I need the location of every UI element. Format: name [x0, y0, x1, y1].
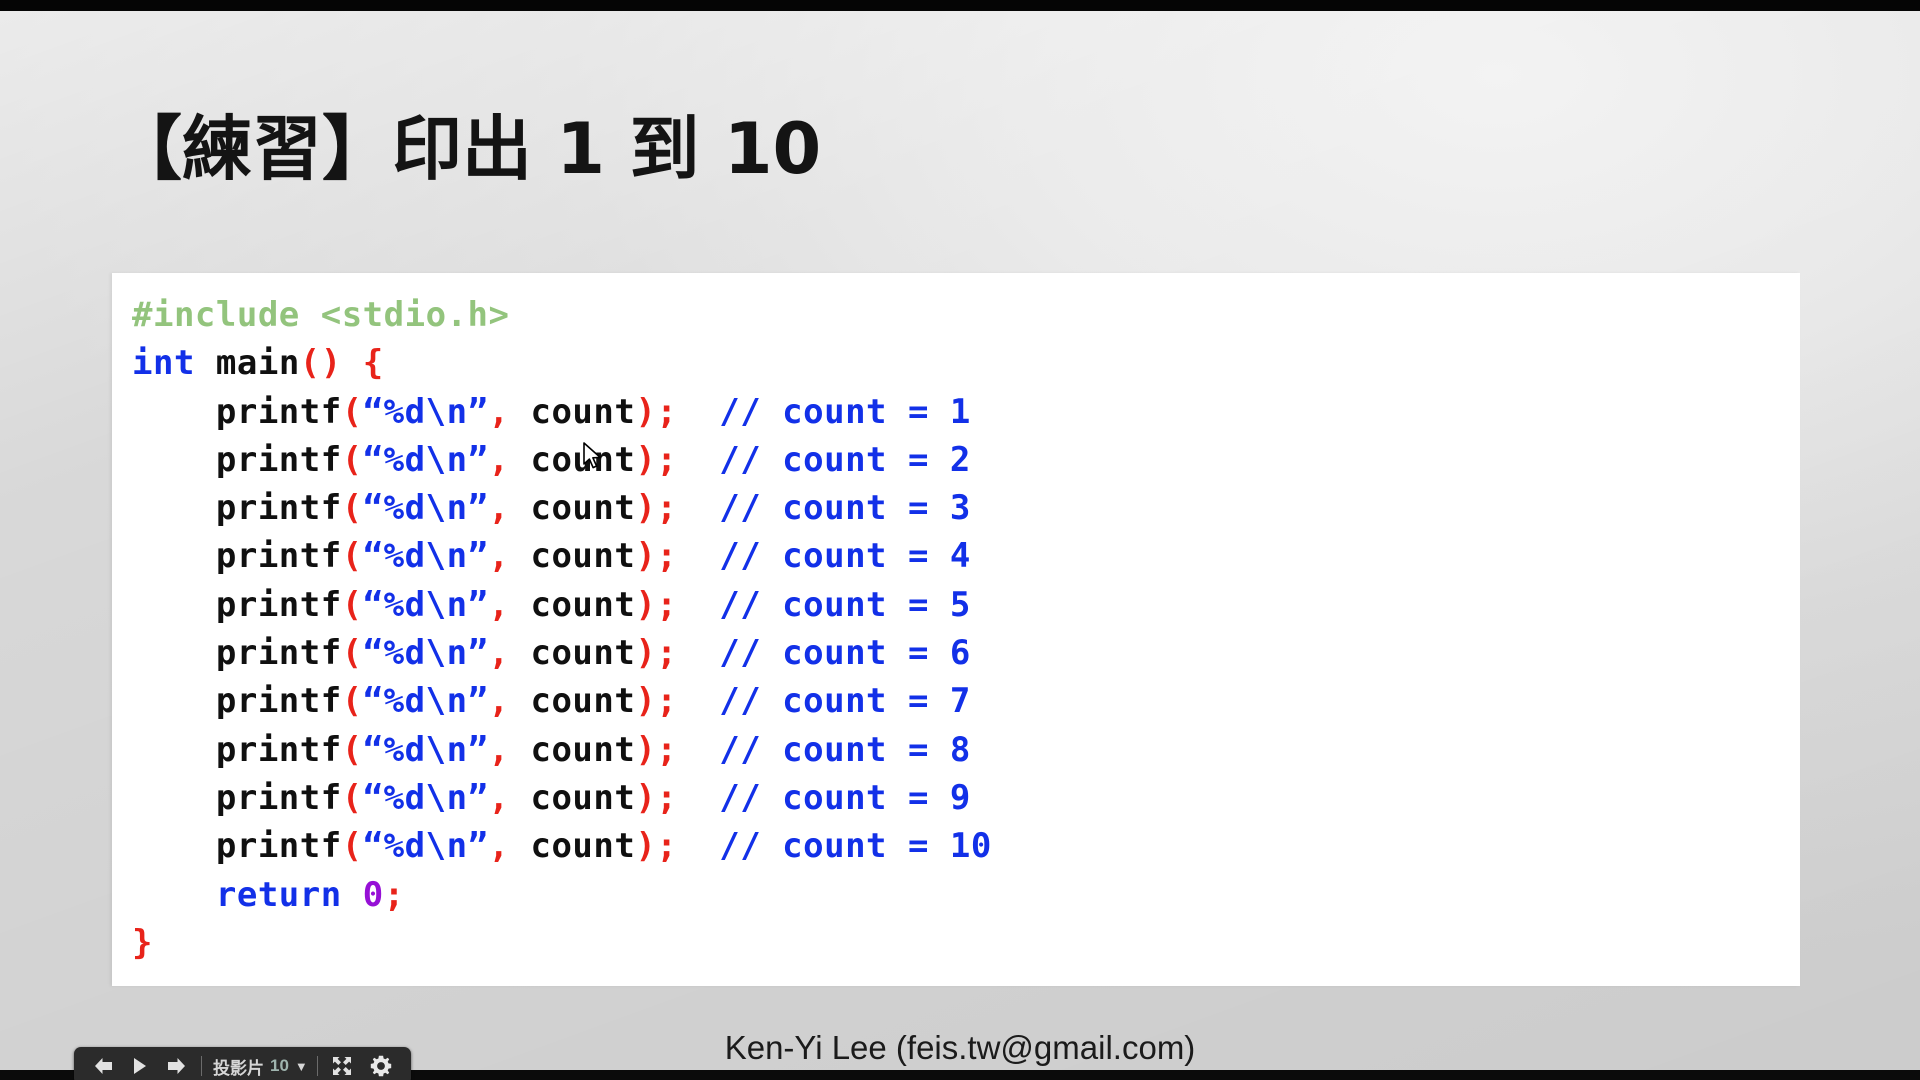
code-token-punc: , [489, 826, 510, 866]
code-token-punc: ); [635, 681, 677, 721]
code-token-punc: ); [635, 778, 677, 818]
code-token-fn: count [510, 826, 636, 866]
presenter-toolbar[interactable]: 投影片 10 ▼ [74, 1047, 411, 1080]
code-token-fn: printf [216, 585, 342, 625]
code-token-punc: ); [635, 536, 677, 576]
fit-screen-button[interactable] [323, 1047, 361, 1080]
code-token-cmt: // count = 10 [719, 826, 992, 866]
code-token-punc: } [132, 923, 153, 963]
code-token-str: “%d\n” [363, 730, 489, 770]
code-token-fn [677, 826, 719, 866]
code-panel: #include <stdio.h>int main() { printf(“%… [112, 273, 1800, 986]
code-token-cmt: // count = 5 [719, 585, 971, 625]
slide-canvas: 【練習】印出 1 到 10 #include <stdio.h>int main… [0, 11, 1920, 1070]
code-token-str: “%d\n” [363, 392, 489, 432]
code-token-punc: ( [342, 633, 363, 673]
code-token-punc: ); [635, 488, 677, 528]
next-slide-button[interactable] [157, 1047, 196, 1080]
code-line: printf(“%d\n”, count); // count = 5 [132, 581, 992, 629]
code-line: printf(“%d\n”, count); // count = 9 [132, 774, 992, 822]
code-token-str: “%d\n” [363, 633, 489, 673]
toolbar-divider-1 [201, 1056, 202, 1076]
code-indent [132, 826, 216, 866]
code-token-fn [677, 778, 719, 818]
code-indent [132, 440, 216, 480]
chevron-down-icon: ▼ [289, 1059, 308, 1074]
code-token-fn: printf [216, 826, 342, 866]
code-indent [132, 633, 216, 673]
code-token-punc: , [489, 633, 510, 673]
code-token-cmt: // count = 8 [719, 730, 971, 770]
code-token-punc: , [489, 488, 510, 528]
code-line: printf(“%d\n”, count); // count = 6 [132, 629, 992, 677]
code-token-cmt: // count = 7 [719, 681, 971, 721]
code-line: printf(“%d\n”, count); // count = 10 [132, 822, 992, 870]
code-token-punc: , [489, 681, 510, 721]
code-token-punc: ; [384, 875, 405, 915]
code-line: printf(“%d\n”, count); // count = 7 [132, 677, 992, 725]
code-token-punc: ( [342, 536, 363, 576]
code-indent [132, 488, 216, 528]
code-token-fn: printf [216, 633, 342, 673]
code-indent [132, 392, 216, 432]
code-token-cmt: // count = 9 [719, 778, 971, 818]
code-token-punc: ); [635, 440, 677, 480]
code-token-punc: , [489, 440, 510, 480]
code-indent [132, 585, 216, 625]
code-token-cmt: // count = 4 [719, 536, 971, 576]
code-token-punc: { [363, 343, 384, 383]
code-token-punc: , [489, 730, 510, 770]
code-token-str: “%d\n” [363, 585, 489, 625]
code-token-punc: ( [342, 488, 363, 528]
arrow-right-icon [166, 1057, 187, 1075]
code-token-punc: ( [342, 730, 363, 770]
code-token-punc: ); [635, 730, 677, 770]
code-token-fn: count [510, 440, 636, 480]
code-token-punc: ); [635, 585, 677, 625]
code-token-fn: main [216, 343, 300, 383]
code-line: int main() { [132, 339, 992, 387]
play-slideshow-button[interactable] [123, 1047, 157, 1080]
code-token-fn: printf [216, 392, 342, 432]
code-token-punc: ( [342, 681, 363, 721]
code-indent [132, 875, 216, 915]
code-token-punc: ); [635, 633, 677, 673]
code-line: return 0; [132, 871, 992, 919]
code-listing: #include <stdio.h>int main() { printf(“%… [132, 291, 992, 967]
settings-button[interactable] [361, 1047, 401, 1080]
slide-selector[interactable]: 投影片 10 ▼ [207, 1047, 312, 1080]
code-token-str: “%d\n” [363, 778, 489, 818]
code-line: printf(“%d\n”, count); // count = 3 [132, 484, 992, 532]
code-token-str: “%d\n” [363, 440, 489, 480]
code-line: printf(“%d\n”, count); // count = 8 [132, 726, 992, 774]
code-token-kw: int [132, 343, 195, 383]
code-token-str: “%d\n” [363, 826, 489, 866]
code-token-punc: ( [342, 778, 363, 818]
code-token-punc: () [300, 343, 342, 383]
collapse-arrows-icon [332, 1056, 352, 1076]
code-token-fn [677, 681, 719, 721]
code-token-fn: printf [216, 681, 342, 721]
code-token-punc: ( [342, 440, 363, 480]
code-token-cmt: // count = 6 [719, 633, 971, 673]
play-icon [132, 1057, 148, 1075]
code-token-fn [677, 392, 719, 432]
code-token-fn: printf [216, 778, 342, 818]
code-token-kw: return [216, 875, 342, 915]
code-token-num: 0 [363, 875, 384, 915]
page-title: 【練習】印出 1 到 10 [112, 93, 821, 194]
code-token-fn: count [510, 633, 636, 673]
code-indent [132, 536, 216, 576]
code-token-fn [677, 488, 719, 528]
code-token-fn: count [510, 392, 636, 432]
code-token-fn: count [510, 730, 636, 770]
previous-slide-button[interactable] [84, 1047, 123, 1080]
code-line: #include <stdio.h> [132, 291, 992, 339]
code-token-fn: count [510, 778, 636, 818]
code-token-punc: ( [342, 585, 363, 625]
code-token-fn [342, 875, 363, 915]
code-token-fn: count [510, 585, 636, 625]
code-line: printf(“%d\n”, count); // count = 2 [132, 436, 992, 484]
code-token-fn: count [510, 488, 636, 528]
toolbar-divider-2 [317, 1056, 318, 1076]
code-line: printf(“%d\n”, count); // count = 1 [132, 388, 992, 436]
code-token-pre: #include <stdio.h> [132, 295, 509, 335]
gear-icon [370, 1055, 392, 1077]
code-token-punc: ( [342, 392, 363, 432]
code-token-punc: , [489, 536, 510, 576]
code-token-fn [342, 343, 363, 383]
code-token-punc: , [489, 778, 510, 818]
slide-selector-label: 投影片 [211, 1054, 266, 1079]
code-token-fn [677, 633, 719, 673]
code-token-punc: ); [635, 826, 677, 866]
code-token-punc: , [489, 392, 510, 432]
code-indent [132, 681, 216, 721]
code-token-fn [677, 730, 719, 770]
code-token-punc: ); [635, 392, 677, 432]
code-token-fn: printf [216, 730, 342, 770]
letterbox-top [0, 0, 1920, 11]
code-token-cmt: // count = 3 [719, 488, 971, 528]
slide-viewer: 【練習】印出 1 到 10 #include <stdio.h>int main… [0, 0, 1920, 1080]
code-line: printf(“%d\n”, count); // count = 4 [132, 532, 992, 580]
code-token-str: “%d\n” [363, 488, 489, 528]
code-token-str: “%d\n” [363, 681, 489, 721]
code-token-punc: ( [342, 826, 363, 866]
code-line: } [132, 919, 992, 967]
code-token-str: “%d\n” [363, 536, 489, 576]
code-token-fn: count [510, 681, 636, 721]
code-token-cmt: // count = 2 [719, 440, 971, 480]
slide-number: 10 [266, 1056, 289, 1076]
code-token-fn: printf [216, 488, 342, 528]
code-token-fn: count [510, 536, 636, 576]
code-token-cmt: // count = 1 [719, 392, 971, 432]
code-token-fn: printf [216, 536, 342, 576]
code-token-fn [677, 585, 719, 625]
code-token-fn [677, 440, 719, 480]
code-token-punc: , [489, 585, 510, 625]
arrow-left-icon [93, 1057, 114, 1075]
code-token-fn [195, 343, 216, 383]
code-indent [132, 730, 216, 770]
code-token-fn: printf [216, 440, 342, 480]
code-token-fn [677, 536, 719, 576]
code-indent [132, 778, 216, 818]
